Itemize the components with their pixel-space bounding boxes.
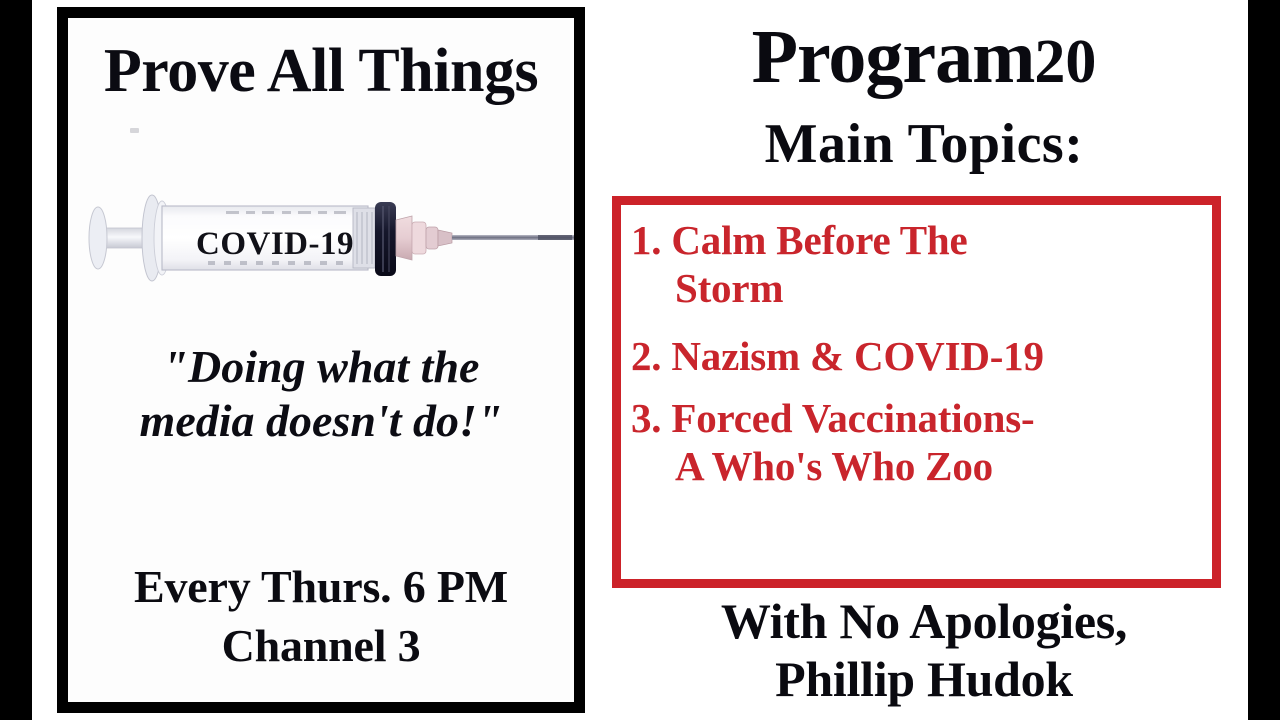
signature-line-1: With No Apologies,	[600, 592, 1248, 650]
main-topics-box: 1. Calm Before The Storm 2. Nazism & COV…	[612, 196, 1221, 588]
tagline-line-1: "Doing what the	[90, 340, 552, 394]
topic-item-3: 3. Forced Vaccinations- A Who's Who Zoo	[631, 395, 1206, 491]
topic-1-line-1: 1. Calm Before The	[631, 217, 1206, 265]
flyer-tagline: "Doing what the media doesn't do!"	[90, 340, 552, 449]
topic-2-line-1: 2. Nazism & COVID-19	[631, 333, 1206, 381]
program-heading: Program20	[600, 14, 1248, 101]
program-panel: Program20 Main Topics: 1. Calm Before Th…	[600, 0, 1248, 720]
poster-canvas: Prove All Things	[0, 0, 1280, 720]
topic-item-1: 1. Calm Before The Storm	[631, 217, 1206, 313]
topic-item-2: 2. Nazism & COVID-19	[631, 333, 1206, 381]
program-heading-word: Program	[752, 15, 1035, 99]
prove-all-things-flyer: Prove All Things	[57, 7, 585, 713]
covid-syringe-illustration: COVID-19	[76, 180, 585, 308]
schedule-channel: Channel 3	[78, 617, 564, 676]
program-number: 20	[1034, 28, 1096, 96]
schedule-time: Every Thurs. 6 PM	[78, 558, 564, 617]
letterbox-bar-right	[1248, 0, 1280, 720]
signature-line-2: Phillip Hudok	[600, 650, 1248, 708]
topic-3-line-2: A Who's Who Zoo	[631, 443, 1206, 491]
scan-speck-artifact	[130, 128, 139, 133]
letterbox-bar-left	[0, 0, 32, 720]
topic-1-line-2: Storm	[631, 265, 1206, 313]
flyer-inner: Prove All Things	[68, 18, 574, 702]
topic-3-line-1: 3. Forced Vaccinations-	[631, 395, 1206, 443]
flyer-title: Prove All Things	[68, 36, 574, 107]
syringe-covid-label: COVID-19	[196, 226, 354, 263]
flyer-schedule: Every Thurs. 6 PM Channel 3	[78, 558, 564, 676]
host-signature: With No Apologies, Phillip Hudok	[600, 592, 1248, 708]
program-subheading: Main Topics:	[600, 112, 1248, 176]
tagline-line-2: media doesn't do!"	[90, 394, 552, 448]
